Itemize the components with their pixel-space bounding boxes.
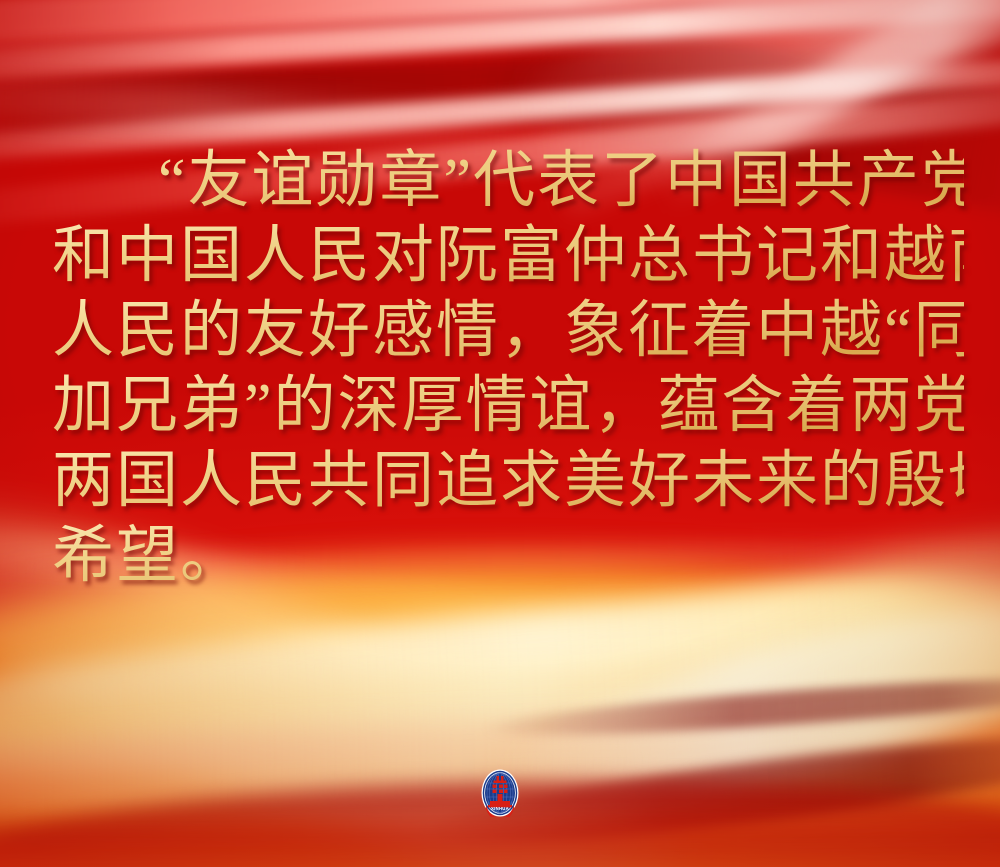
quote-line-1: “友谊勋章”代表了中国共产党 [52,144,964,219]
quote-line-3: 人民的友好感情，象征着中越“同志 [52,294,964,369]
quote-line-2: 和中国人民对阮富仲总书记和越南 [52,219,964,294]
emblem-wordmark: XINHUA [491,806,509,811]
quote-line-5: 两国人民共同追求美好未来的殷切 [52,444,964,519]
quote-line-6: 希望。 [52,519,964,594]
quote-line-4: 加兄弟”的深厚情谊，蕴含着两党和 [52,369,964,444]
quote-text-block: “友谊勋章”代表了中国共产党 和中国人民对阮富仲总书记和越南 人民的友好感情，象… [52,144,964,594]
fold-shadow-3 [0,826,1000,867]
xinhua-logo-icon: XINHUA [481,769,519,817]
quote-card: “友谊勋章”代表了中国共产党 和中国人民对阮富仲总书记和越南 人民的友好感情，象… [0,0,1000,867]
